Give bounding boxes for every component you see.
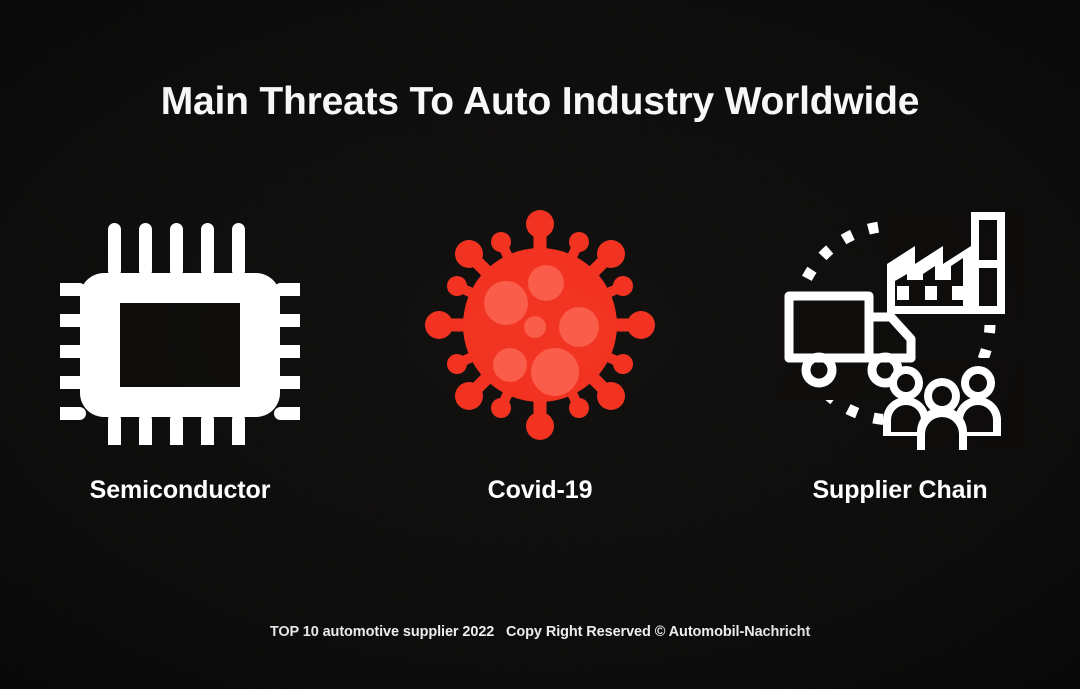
microchip-icon — [60, 205, 300, 445]
card-label-semiconductor: Semiconductor — [90, 476, 271, 505]
footer-credit: TOP 10 automotive supplier 2022 Copy Rig… — [0, 624, 1080, 640]
semiconductor-icon-wrap — [60, 190, 300, 460]
threat-card-semiconductor: Semiconductor — [15, 190, 345, 505]
threat-card-row: Semiconductor — [0, 190, 1080, 590]
card-label-supplier-chain: Supplier Chain — [812, 476, 987, 505]
threat-card-covid: Covid-19 — [375, 190, 705, 505]
page-title: Main Threats To Auto Industry Worldwide — [0, 80, 1080, 124]
card-label-covid: Covid-19 — [488, 476, 593, 505]
supply-chain-icon — [775, 200, 1025, 450]
threat-card-supplier-chain: Supplier Chain — [735, 190, 1065, 505]
covid-icon-wrap — [415, 190, 665, 460]
coronavirus-icon — [415, 200, 665, 450]
infographic-canvas: Main Threats To Auto Industry Worldwide — [0, 0, 1080, 689]
supplier-chain-icon-wrap — [775, 190, 1025, 460]
